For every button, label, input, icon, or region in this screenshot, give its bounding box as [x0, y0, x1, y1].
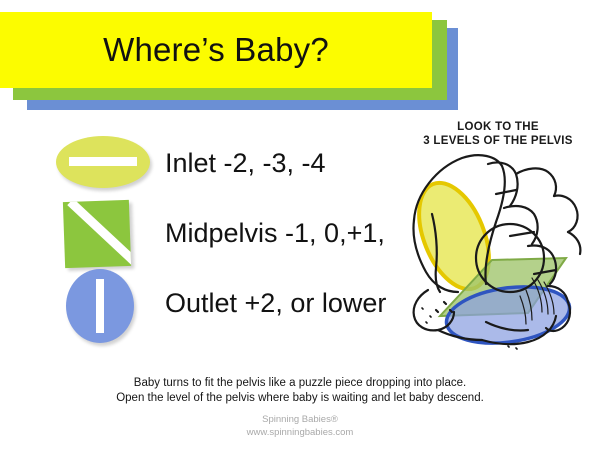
- pelvis-diagram-heading-line2: 3 LEVELS OF THE PELVIS: [398, 134, 598, 148]
- blue-circle-icon: [66, 269, 134, 343]
- slide-canvas: Where’s Baby? Inlet -2, -3, -4 Midpelvis…: [0, 0, 600, 450]
- diagonal-slit-icon: [67, 200, 131, 268]
- brand-website[interactable]: www.spinningbabies.com: [0, 427, 600, 440]
- caption-line1: Baby turns to fit the pelvis like a puzz…: [0, 376, 600, 391]
- outlet-shape-icon: [52, 268, 152, 338]
- caption-text: Baby turns to fit the pelvis like a puzz…: [0, 376, 600, 406]
- outlet-label: Outlet +2, or lower: [165, 268, 386, 338]
- title-banner: Where’s Baby?: [0, 0, 470, 115]
- brand-name: Spinning Babies®: [0, 414, 600, 427]
- list-item: Inlet -2, -3, -4: [0, 128, 410, 198]
- green-square-icon: [63, 200, 131, 268]
- horizontal-slit-icon: [69, 157, 137, 166]
- pelvis-diagram: [392, 150, 600, 380]
- credit-block: Spinning Babies® www.spinningbabies.com: [0, 414, 600, 439]
- pelvis-diagram-heading: LOOK TO THE 3 LEVELS OF THE PELVIS: [398, 120, 598, 148]
- midpelvis-label: Midpelvis -1, 0,+1,: [165, 198, 385, 268]
- vertical-slit-icon: [96, 279, 104, 333]
- midpelvis-shape-icon: [52, 198, 152, 268]
- pelvis-diagram-heading-line1: LOOK TO THE: [398, 120, 598, 134]
- pelvic-levels-list: Inlet -2, -3, -4 Midpelvis -1, 0,+1, Out…: [0, 128, 410, 338]
- list-item: Outlet +2, or lower: [0, 268, 410, 338]
- yellow-ellipse-icon: [56, 136, 150, 188]
- inlet-label: Inlet -2, -3, -4: [165, 128, 326, 198]
- caption-line2: Open the level of the pelvis where baby …: [0, 391, 600, 406]
- list-item: Midpelvis -1, 0,+1,: [0, 198, 410, 268]
- page-title: Where’s Baby?: [0, 12, 432, 88]
- inlet-shape-icon: [52, 128, 152, 198]
